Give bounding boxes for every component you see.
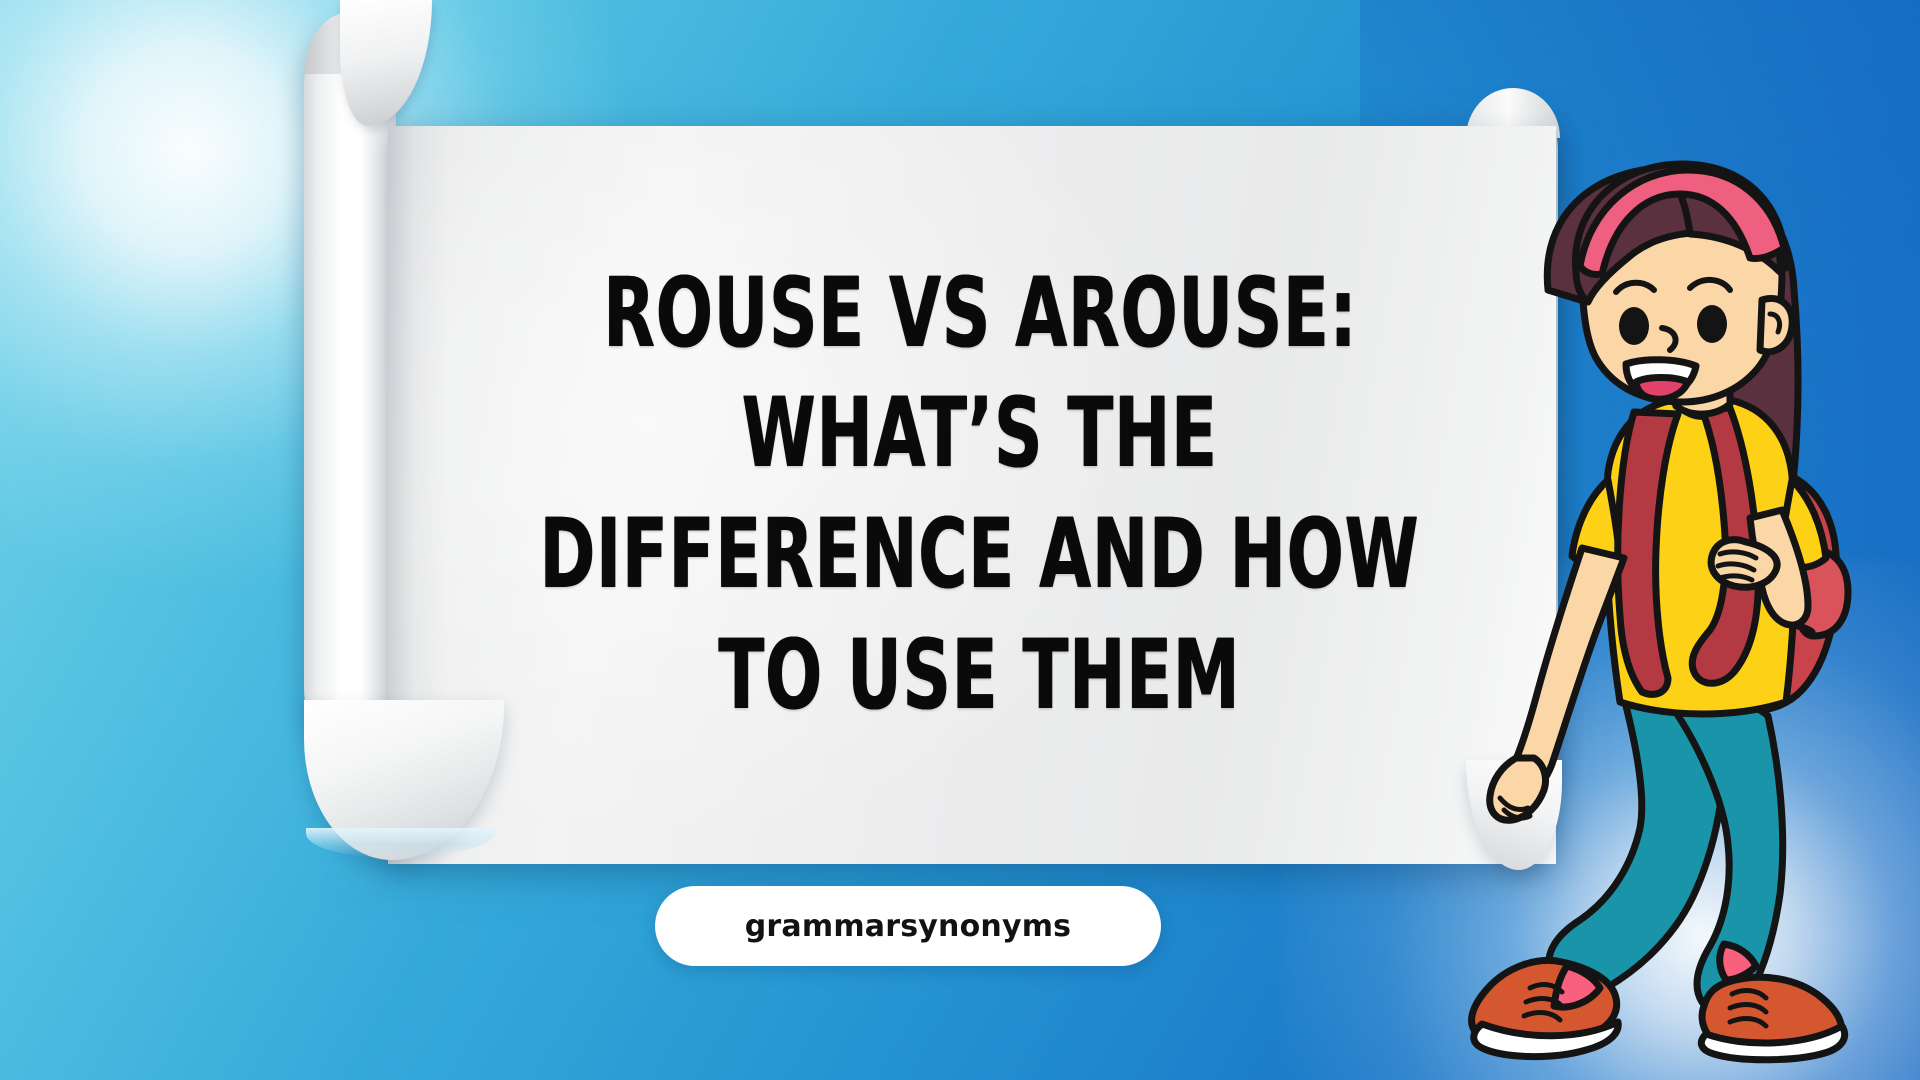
title-line-2: WHAT’S THE [742,383,1218,486]
banner-left-curl-top-fold [340,0,432,126]
brand-badge-label: grammarsynonyms [745,909,1071,944]
title-line-3: DIFFERENCE AND HOW [540,504,1420,607]
title-line-4: TO USE THEM [719,625,1241,728]
banner-left-curl-back [304,18,396,758]
brand-badge[interactable]: grammarsynonyms [655,886,1161,966]
title-line-1: ROUSE VS AROUSE: [603,263,1357,366]
poster-title: ROUSE VS AROUSE: WHAT’S THE DIFFERENCE A… [400,140,1560,850]
poster-canvas: ROUSE VS AROUSE: WHAT’S THE DIFFERENCE A… [0,0,1920,1080]
walking-schoolgirl-illustration [1430,150,1920,1080]
